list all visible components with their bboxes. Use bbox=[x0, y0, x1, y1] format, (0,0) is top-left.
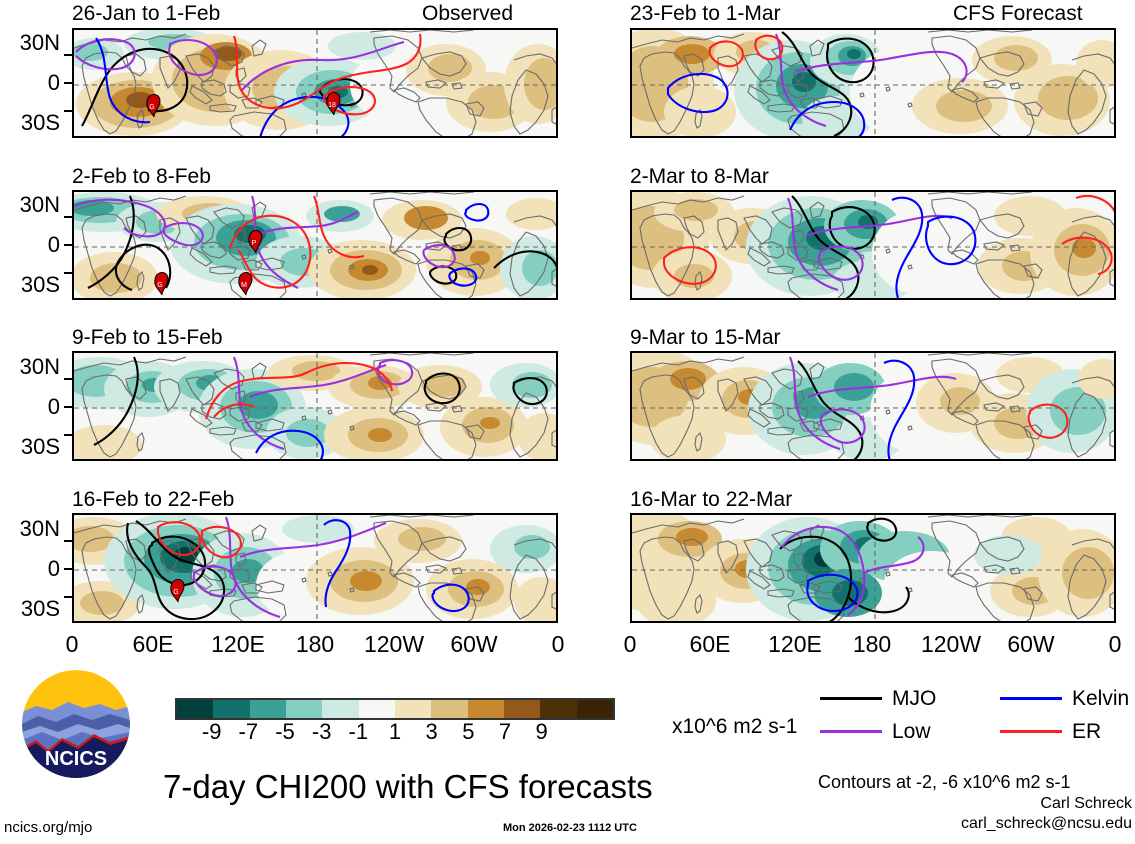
colorbar-segment-5 bbox=[359, 700, 395, 718]
y-ticklabel-r2-30s: 30S bbox=[0, 436, 60, 458]
column-tag-cfs-forecast: CFS Forecast bbox=[953, 3, 1083, 24]
map-panel-0[interactable]: G 18 bbox=[72, 28, 558, 138]
svg-text:18: 18 bbox=[328, 102, 336, 109]
y-ticklabel-r0-0: 0 bbox=[0, 72, 60, 94]
colorbar-tick--9: -9 bbox=[202, 720, 222, 744]
x-ticklabel-r-120w: 120W bbox=[916, 633, 986, 656]
x-ticklabel-l-180: 180 bbox=[285, 633, 345, 656]
x-ticklabel-l-60e: 60E bbox=[123, 633, 183, 656]
colorbar-tick--5: -5 bbox=[275, 720, 295, 744]
tick-y bbox=[64, 406, 72, 408]
colorbar-segment-0 bbox=[177, 700, 213, 718]
colorbar-segment-8 bbox=[468, 700, 504, 718]
x-ticklabel-l-0b: 0 bbox=[528, 633, 588, 656]
y-ticklabel-r1-0: 0 bbox=[0, 234, 60, 256]
colorbar-ticklabels: -9-7-5-3-113579 bbox=[175, 720, 615, 746]
legend-label-er: ER bbox=[1072, 721, 1101, 742]
colorbar-tick--7: -7 bbox=[239, 720, 259, 744]
tick-y bbox=[64, 82, 72, 84]
main-title: 7-day CHI200 with CFS forecasts bbox=[163, 770, 653, 804]
x-ticklabel-r-0: 0 bbox=[600, 633, 660, 656]
svg-text:P: P bbox=[252, 240, 257, 247]
x-ticklabel-l-120e: 120E bbox=[203, 633, 273, 656]
colorbar-tick--3: -3 bbox=[312, 720, 332, 744]
tick-y bbox=[64, 110, 72, 112]
tick-y bbox=[64, 216, 72, 218]
x-ticklabel-l-0: 0 bbox=[42, 633, 102, 656]
panel-title-1: 2-Feb to 8-Feb bbox=[72, 166, 211, 187]
legend-label-kelvin: Kelvin x2 bbox=[1072, 688, 1135, 709]
colorbar-segment-3 bbox=[286, 700, 322, 718]
tick-y bbox=[64, 596, 72, 598]
chi200-shading-5 bbox=[632, 192, 1116, 300]
colorbar-tick--1: -1 bbox=[349, 720, 369, 744]
colorbar-tick-1: 1 bbox=[389, 720, 401, 744]
y-ticklabel-r2-30n: 30N bbox=[0, 356, 60, 378]
colorbar-segment-6 bbox=[395, 700, 431, 718]
tick-y bbox=[64, 434, 72, 436]
contour-note: Contours at -2, -6 x10^6 m2 s-1 bbox=[818, 772, 1071, 792]
map-panel-2[interactable] bbox=[72, 351, 558, 461]
y-ticklabel-r3-30n: 30N bbox=[0, 518, 60, 540]
legend-line-mjo bbox=[820, 697, 882, 700]
chi200-shading-4 bbox=[632, 30, 1116, 138]
y-ticklabel-r0-30s: 30S bbox=[0, 112, 60, 134]
colorbar-tick-5: 5 bbox=[462, 720, 474, 744]
colorbar-segment-1 bbox=[213, 700, 249, 718]
x-ticklabel-r-120e: 120E bbox=[760, 633, 830, 656]
panel-title-3: 16-Feb to 22-Feb bbox=[72, 489, 234, 510]
tick-y bbox=[64, 540, 72, 542]
colorbar-tick-7: 7 bbox=[499, 720, 511, 744]
svg-text:G: G bbox=[149, 104, 154, 111]
x-ticklabel-l-120w: 120W bbox=[359, 633, 429, 656]
contour-legend-right: Kelvin x2 ER bbox=[1000, 688, 1135, 754]
colorbar[interactable]: -9-7-5-3-113579 bbox=[175, 698, 615, 746]
colorbar-tick-9: 9 bbox=[536, 720, 548, 744]
colorbar-segment-9 bbox=[504, 700, 540, 718]
legend-line-kelvin bbox=[1000, 697, 1062, 700]
author-name: Carl Schreck bbox=[860, 795, 1132, 813]
map-panel-3[interactable]: G bbox=[72, 513, 558, 623]
panel-title-6: 9-Mar to 15-Mar bbox=[630, 327, 781, 348]
legend-row-er: ER bbox=[1000, 721, 1135, 742]
legend-line-low bbox=[820, 730, 882, 733]
colorbar-segment-7 bbox=[431, 700, 467, 718]
panel-title-0: 26-Jan to 1-Feb bbox=[72, 3, 220, 24]
column-tag-observed: Observed bbox=[422, 3, 513, 24]
legend-row-low: Low bbox=[820, 721, 936, 742]
map-panel-5[interactable] bbox=[630, 190, 1116, 300]
legend-line-er bbox=[1000, 730, 1062, 733]
run-timestamp: Mon 2026-02-23 1112 UTC bbox=[503, 822, 637, 834]
legend-label-mjo: MJO bbox=[892, 688, 936, 709]
legend-label-low: Low bbox=[892, 721, 931, 742]
tick-y bbox=[64, 378, 72, 380]
colorbar-strip bbox=[175, 698, 615, 720]
map-panel-6[interactable] bbox=[630, 351, 1116, 461]
x-ticklabel-r-0b: 0 bbox=[1085, 633, 1135, 656]
y-ticklabel-r1-30s: 30S bbox=[0, 274, 60, 296]
tick-y bbox=[64, 244, 72, 246]
panel-title-2: 9-Feb to 15-Feb bbox=[72, 327, 223, 348]
svg-text:G: G bbox=[157, 282, 162, 289]
panel-title-4: 23-Feb to 1-Mar bbox=[630, 3, 781, 24]
ncics-logo-text: NCICS bbox=[45, 748, 107, 770]
contour-legend: MJO Low bbox=[820, 688, 936, 754]
colorbar-units-label: x10^6 m2 s-1 bbox=[672, 715, 797, 739]
colorbar-segment-4 bbox=[322, 700, 358, 718]
site-url[interactable]: ncics.org/mjo bbox=[4, 820, 92, 836]
tick-y bbox=[64, 272, 72, 274]
map-panel-4[interactable] bbox=[630, 28, 1116, 138]
panel-title-7: 16-Mar to 22-Mar bbox=[630, 489, 792, 510]
x-ticklabel-r-60w: 60W bbox=[1001, 633, 1061, 656]
svg-text:G: G bbox=[173, 589, 178, 596]
y-ticklabel-r3-0: 0 bbox=[0, 558, 60, 580]
map-panel-1[interactable]: G M P bbox=[72, 190, 558, 300]
author-email: carl_schreck@ncsu.edu bbox=[860, 815, 1132, 833]
y-ticklabel-r1-30n: 30N bbox=[0, 194, 60, 216]
y-ticklabel-r0-30n: 30N bbox=[0, 32, 60, 54]
x-ticklabel-r-180: 180 bbox=[842, 633, 902, 656]
svg-text:M: M bbox=[241, 282, 247, 289]
colorbar-segment-10 bbox=[540, 700, 576, 718]
tick-y bbox=[64, 568, 72, 570]
colorbar-segment-2 bbox=[250, 700, 286, 718]
panel-title-5: 2-Mar to 8-Mar bbox=[630, 166, 769, 187]
x-ticklabel-r-60e: 60E bbox=[680, 633, 740, 656]
colorbar-segment-11 bbox=[577, 700, 613, 718]
y-ticklabel-r2-0: 0 bbox=[0, 396, 60, 418]
y-ticklabel-r3-30s: 30S bbox=[0, 598, 60, 620]
legend-row-kelvin: Kelvin x2 bbox=[1000, 688, 1135, 709]
ncics-logo[interactable]: NCICS bbox=[22, 670, 130, 778]
colorbar-tick-3: 3 bbox=[426, 720, 438, 744]
x-ticklabel-l-60w: 60W bbox=[444, 633, 504, 656]
map-panel-7[interactable] bbox=[630, 513, 1116, 623]
tick-y bbox=[64, 54, 72, 56]
legend-row-mjo: MJO bbox=[820, 688, 936, 709]
